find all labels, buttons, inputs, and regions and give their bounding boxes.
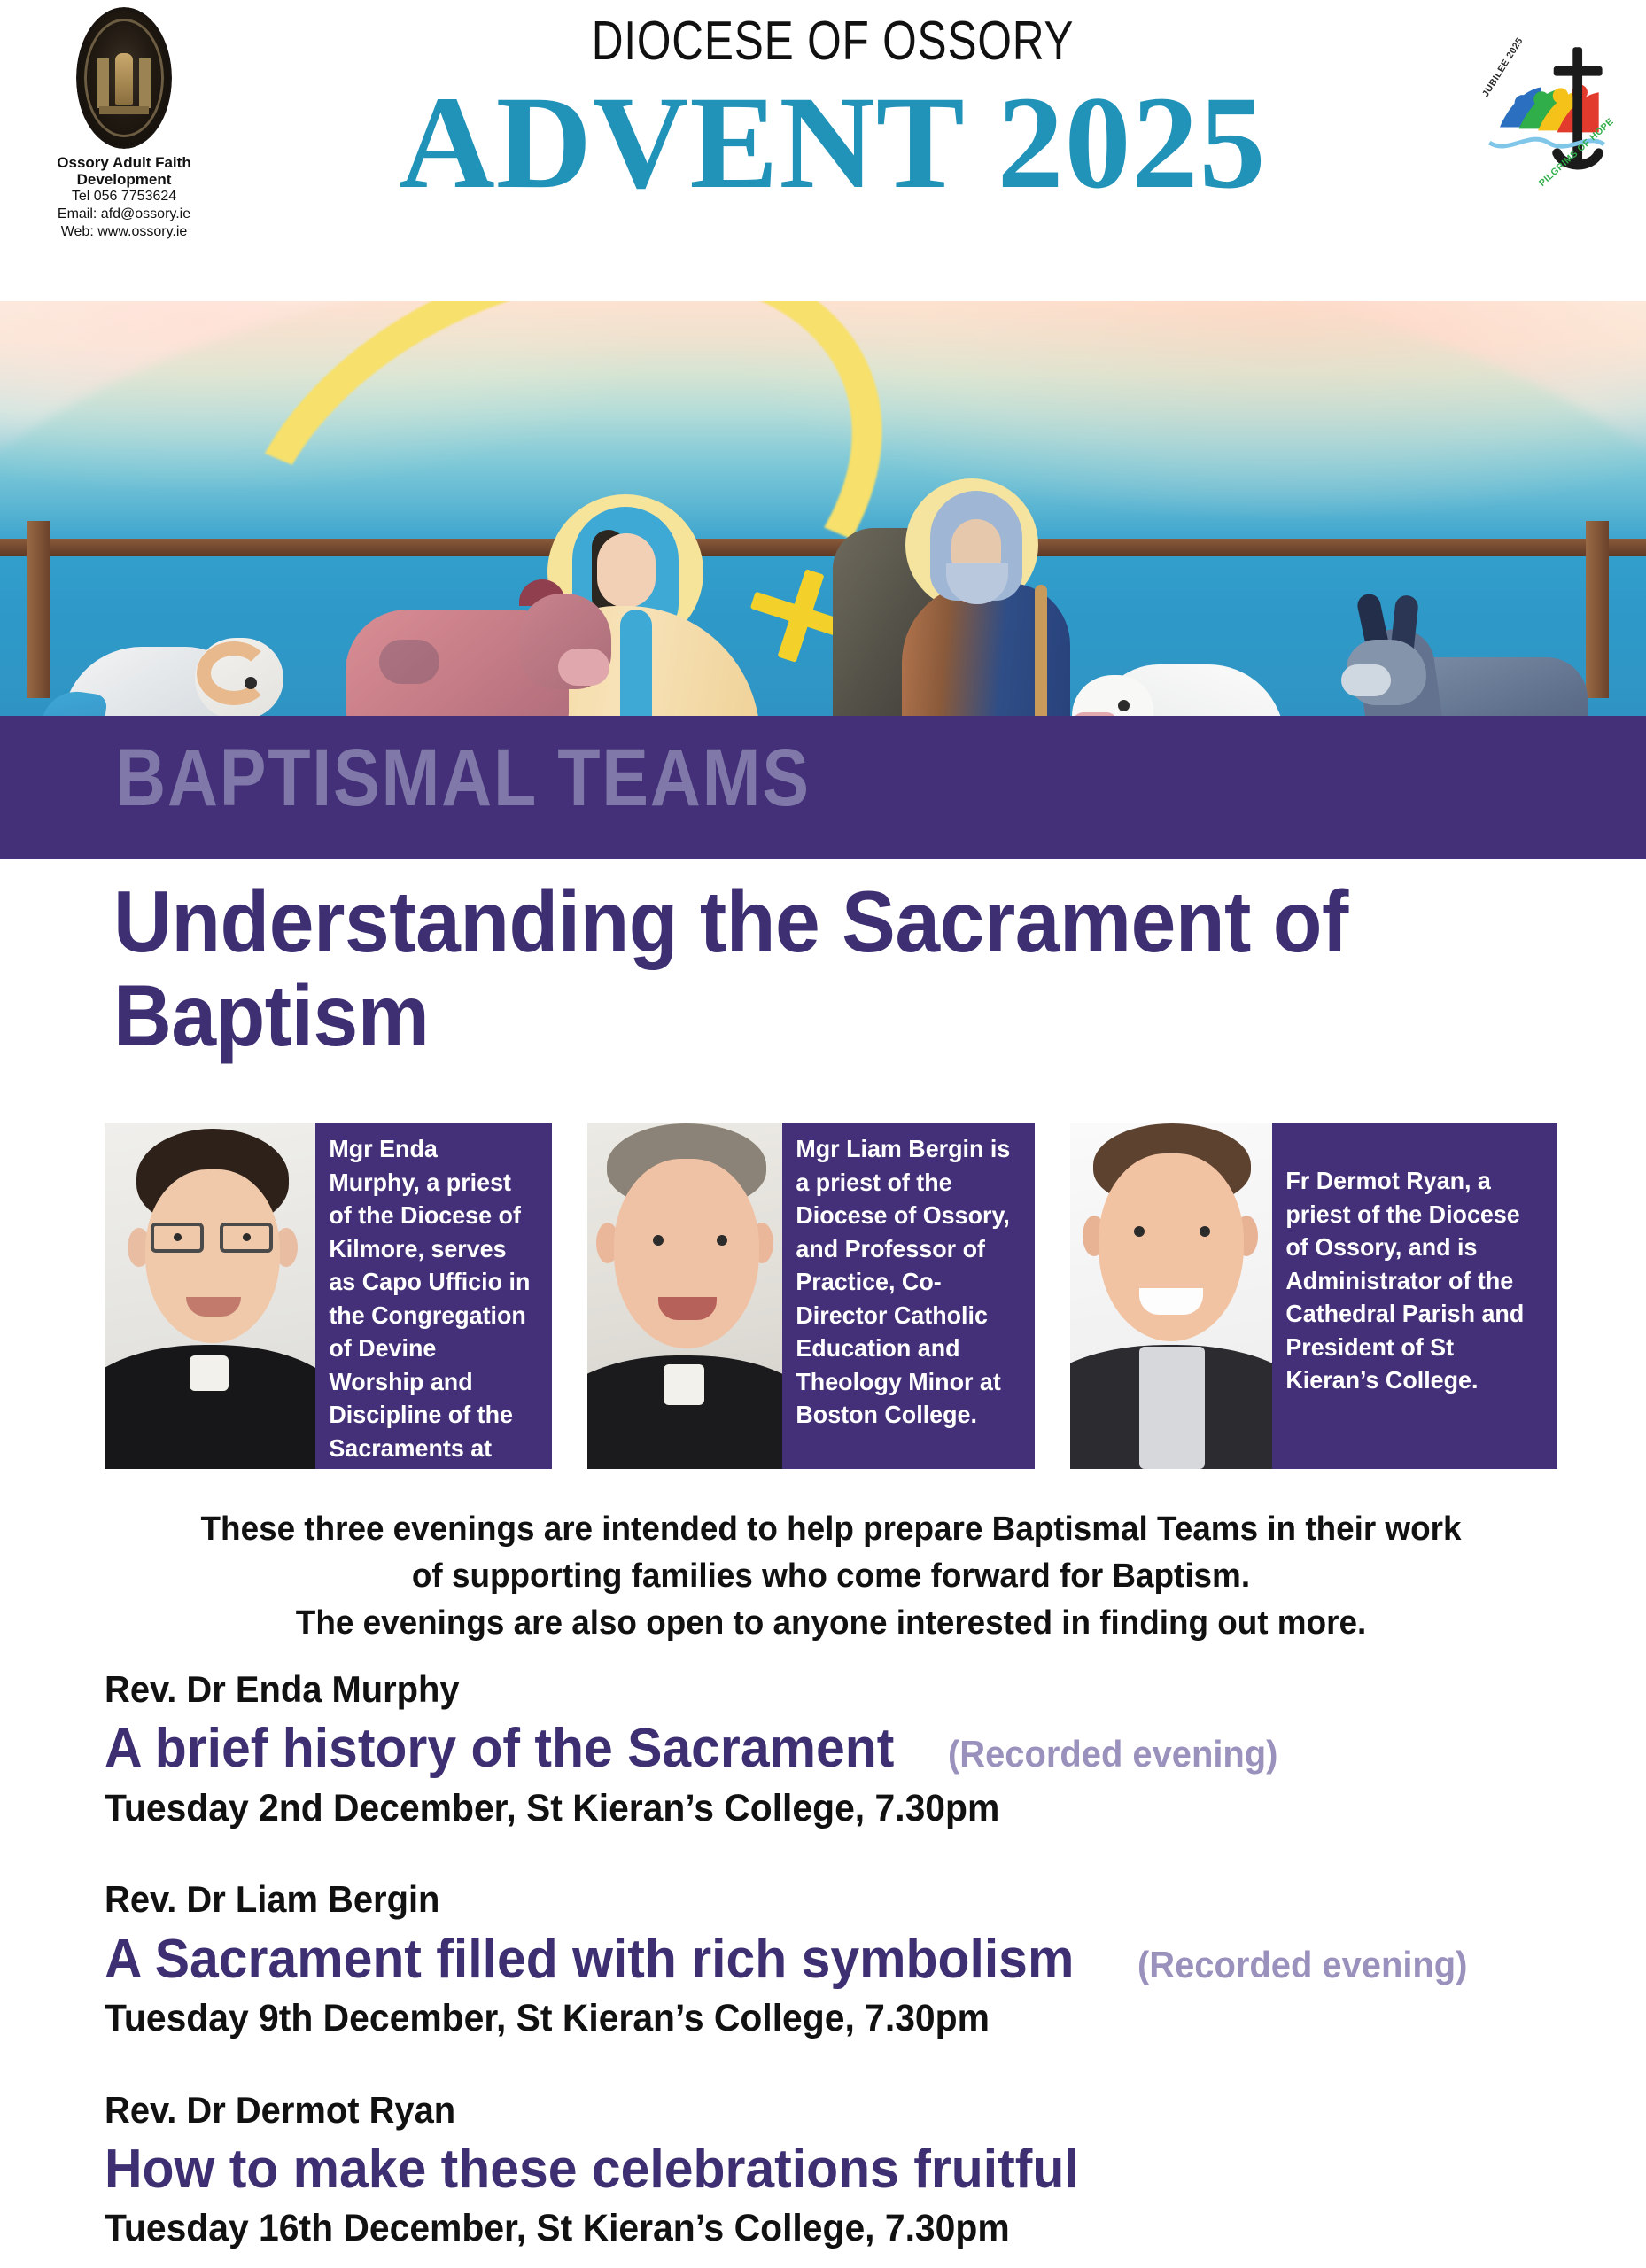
event-datetime: Tuesday 2nd December, St Kieran’s Colleg… bbox=[105, 1786, 1518, 1832]
speaker-card-list: Mgr Enda Murphy, a priest of the Diocese… bbox=[105, 1123, 1557, 1469]
event-item: Rev. Dr Liam Bergin A Sacrament filled w… bbox=[105, 1877, 1593, 2041]
speaker-card: Mgr Liam Bergin is a priest of the Dioce… bbox=[587, 1123, 1035, 1469]
contact-tel: Tel 056 7753624 bbox=[27, 188, 221, 206]
event-datetime: Tuesday 9th December, St Kieran’s Colleg… bbox=[105, 1996, 1518, 2042]
poster-title-block: DIOCESE OF OSSORY ADVENT 2025 bbox=[230, 12, 1435, 211]
event-title: A Sacrament filled with rich symbolism bbox=[105, 1928, 1074, 1991]
speaker-photo-dermot-ryan bbox=[1070, 1123, 1272, 1469]
event-note: (Recorded evening) bbox=[948, 1733, 1277, 1775]
speaker-bio: Mgr Enda Murphy, a priest of the Diocese… bbox=[315, 1123, 542, 1469]
intro-line-3: The evenings are also open to anyone int… bbox=[127, 1600, 1536, 1647]
event-list: Rev. Dr Enda Murphy A brief history of t… bbox=[105, 1667, 1593, 2268]
contact-web: Web: www.ossory.ie bbox=[27, 223, 221, 241]
speaker-card: Fr Dermot Ryan, a priest of the Diocese … bbox=[1070, 1123, 1557, 1469]
event-datetime: Tuesday 16th December, St Kieran’s Colle… bbox=[105, 2206, 1518, 2252]
speaker-bio: Fr Dermot Ryan, a priest of the Diocese … bbox=[1272, 1123, 1546, 1469]
jubilee-2025-logo-icon: JUBILEE 2025 PILGRIMS OF HOPE bbox=[1455, 16, 1628, 190]
event-speaker: Rev. Dr Liam Bergin bbox=[105, 1877, 1518, 1922]
speaker-bio: Mgr Liam Bergin is a priest of the Dioce… bbox=[782, 1123, 1025, 1469]
event-title: A brief history of the Sacrament bbox=[105, 1717, 894, 1780]
advent-year-title: ADVENT 2025 bbox=[230, 75, 1435, 211]
donkey-figure bbox=[1329, 594, 1595, 716]
ossory-diocesan-crest-icon bbox=[76, 7, 172, 149]
speaker-photo-liam-bergin bbox=[587, 1123, 782, 1469]
section-banner: BAPTISMAL TEAMS bbox=[0, 716, 1646, 859]
diocese-label: DIOCESE OF OSSORY bbox=[351, 12, 1315, 70]
intro-paragraph: These three evenings are intended to hel… bbox=[127, 1506, 1536, 1648]
fence-post-left bbox=[27, 521, 50, 698]
banner-label: BAPTISMAL TEAMS bbox=[115, 732, 811, 826]
ox-figure bbox=[346, 594, 611, 716]
sheep-figure-right bbox=[1072, 657, 1293, 716]
event-item: Rev. Dr Enda Murphy A brief history of t… bbox=[105, 1667, 1593, 1831]
intro-line-1: These three evenings are intended to hel… bbox=[127, 1506, 1536, 1553]
event-note: (Recorded evening) bbox=[1137, 1944, 1467, 1986]
speaker-card: Mgr Enda Murphy, a priest of the Diocese… bbox=[105, 1123, 552, 1469]
joseph-figure bbox=[886, 478, 1090, 716]
event-item: Rev. Dr Dermot Ryan How to make these ce… bbox=[105, 2088, 1593, 2252]
speaker-photo-enda-murphy bbox=[105, 1123, 315, 1469]
org-name-line2: Development bbox=[27, 171, 221, 188]
stable-fence-rail bbox=[0, 539, 1646, 556]
ossory-afd-contact-block: Ossory Adult Faith Development Tel 056 7… bbox=[27, 7, 221, 241]
event-speaker: Rev. Dr Dermot Ryan bbox=[105, 2088, 1518, 2132]
intro-line-2: of supporting families who come forward … bbox=[127, 1553, 1536, 1600]
event-title: How to make these celebrations fruitful bbox=[105, 2138, 1079, 2201]
advent-poster: Ossory Adult Faith Development Tel 056 7… bbox=[0, 0, 1646, 2268]
nativity-illustration bbox=[0, 301, 1646, 716]
poster-header: Ossory Adult Faith Development Tel 056 7… bbox=[0, 0, 1646, 301]
org-name-line1: Ossory Adult Faith bbox=[27, 154, 221, 171]
page-title: Understanding the Sacrament of Baptism bbox=[113, 875, 1464, 1063]
contact-email: Email: afd@ossory.ie bbox=[27, 206, 221, 223]
event-speaker: Rev. Dr Enda Murphy bbox=[105, 1667, 1518, 1712]
